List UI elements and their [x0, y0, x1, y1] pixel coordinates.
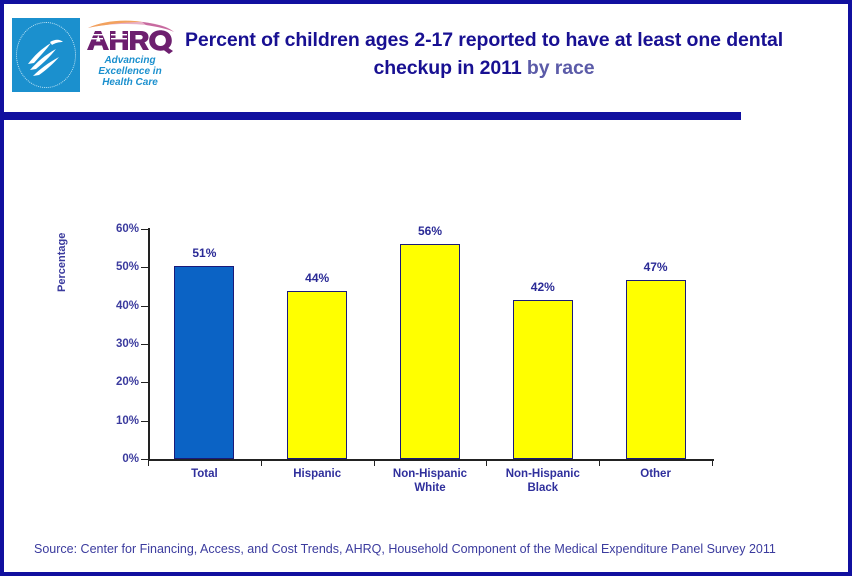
ahrq-logo: Advancing Excellence in Health Care [12, 18, 178, 96]
bar[interactable] [174, 266, 234, 459]
tagline-line-2: Excellence in [84, 66, 176, 77]
page-title-main: Percent of children ages 2-17 reported t… [185, 29, 783, 79]
x-category-label: Non-Hispanic Black [486, 468, 599, 495]
bar-slot: 51% [174, 229, 234, 459]
y-tick-mark [141, 306, 148, 307]
x-tick-mark [374, 459, 375, 466]
y-tick-mark [141, 459, 148, 460]
ahrq-wordmark-block: Advancing Excellence in Health Care [84, 18, 176, 88]
ahrq-tagline: Advancing Excellence in Health Care [84, 55, 176, 88]
hhs-seal-icon [12, 18, 80, 92]
page-title: Percent of children ages 2-17 reported t… [184, 26, 784, 82]
y-tick-label: 60% [116, 223, 139, 235]
x-tick-mark [486, 459, 487, 466]
tagline-line-3: Health Care [84, 77, 176, 88]
x-tick-mark [148, 459, 149, 466]
ahrq-wordmark [84, 20, 176, 54]
x-tick-mark [261, 459, 262, 466]
y-tick-mark [141, 421, 148, 422]
bar[interactable] [400, 244, 460, 459]
header-divider [4, 112, 741, 120]
bar-slot: 56% [400, 229, 460, 459]
x-axis-line [148, 459, 714, 461]
y-tick-label: 40% [116, 300, 139, 312]
y-tick-label: 50% [116, 261, 139, 273]
tagline-line-1: Advancing [84, 55, 176, 66]
y-tick-label: 0% [122, 453, 139, 465]
bar-slot: 47% [626, 229, 686, 459]
bar-slot: 42% [513, 229, 573, 459]
bar[interactable] [626, 280, 686, 459]
bar-slot: 44% [287, 229, 347, 459]
page-title-qualifier: by race [527, 57, 595, 79]
y-tick-mark [141, 382, 148, 383]
slide-canvas: Advancing Excellence in Health Care Perc… [0, 0, 852, 576]
hhs-eagle-glyph [24, 30, 68, 80]
source-note: Source: Center for Financing, Access, an… [34, 542, 776, 556]
slide-header: Advancing Excellence in Health Care Perc… [4, 4, 848, 102]
x-category-label: Other [599, 468, 712, 482]
x-tick-mark [599, 459, 600, 466]
y-tick-mark [141, 267, 148, 268]
y-axis-title: Percentage [56, 276, 68, 292]
bar[interactable] [287, 291, 347, 459]
y-tick-label: 20% [116, 376, 139, 388]
y-tick-label: 10% [116, 415, 139, 427]
bar-value-label: 47% [644, 260, 668, 274]
plot-area: 0%10%20%30%40%50%60% 51%44%56%42%47% [148, 229, 712, 459]
y-tick-label: 30% [116, 338, 139, 350]
x-category-label: Non-Hispanic White [374, 468, 487, 495]
x-category-label: Total [148, 468, 261, 482]
y-tick-mark [141, 229, 148, 230]
y-tick-mark [141, 344, 148, 345]
bar-chart: Percentage 0%10%20%30%40%50%60% 51%44%56… [4, 124, 848, 524]
bar-value-label: 51% [192, 246, 216, 260]
bar-value-label: 56% [418, 224, 442, 238]
bar-value-label: 44% [305, 271, 329, 285]
bar-value-label: 42% [531, 280, 555, 294]
x-category-label: Hispanic [261, 468, 374, 482]
x-tick-mark [712, 459, 713, 466]
bar[interactable] [513, 300, 573, 459]
